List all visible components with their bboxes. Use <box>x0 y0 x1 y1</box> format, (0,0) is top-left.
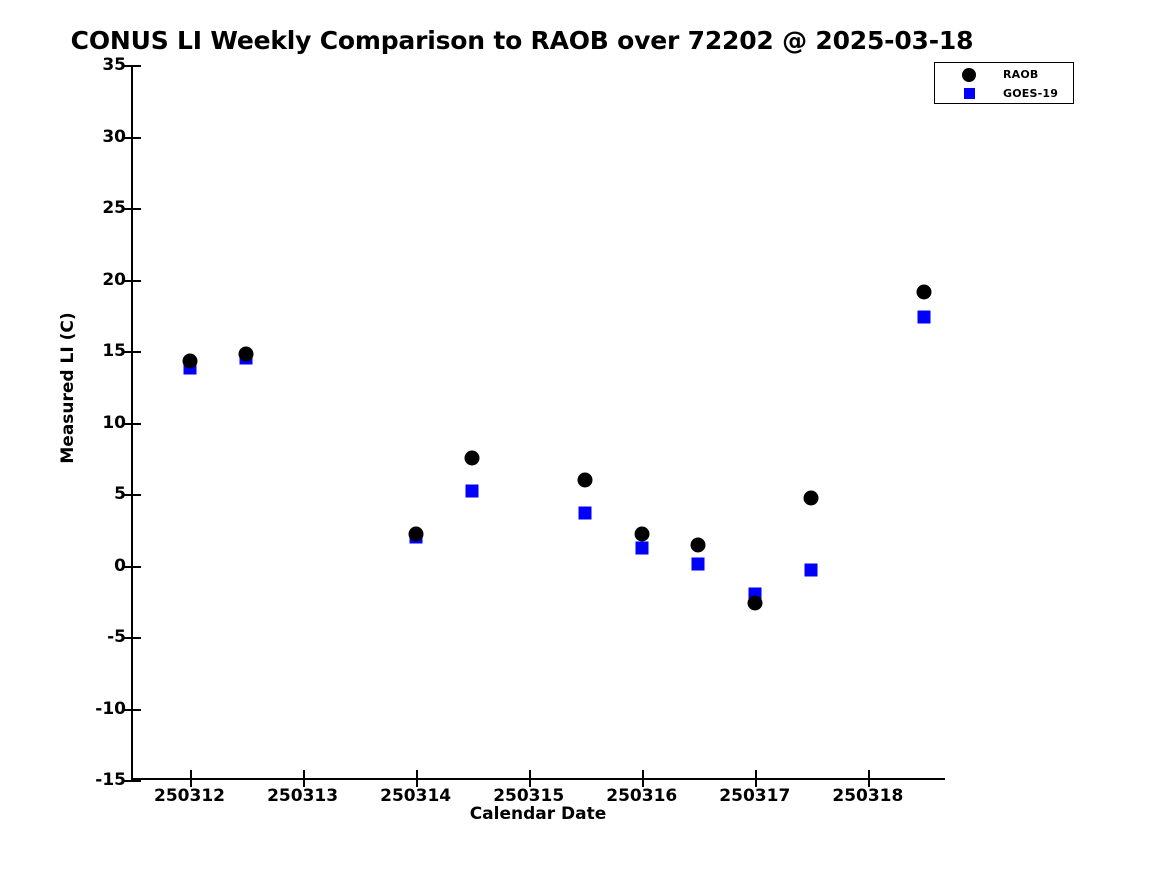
chart-legend: RAOB GOES-19 <box>934 62 1074 104</box>
legend-swatch-wrap <box>935 68 1003 82</box>
data-point-raob <box>747 595 762 610</box>
x-axis-tick-inner <box>190 770 192 778</box>
y-axis-tick-label: -5 <box>107 627 126 647</box>
data-point-raob <box>578 472 593 487</box>
x-axis-tick-label: 250318 <box>832 786 903 806</box>
y-axis-tick-inner <box>133 709 141 711</box>
data-point-raob <box>634 527 649 542</box>
x-axis-tick-label: 250316 <box>606 786 677 806</box>
y-axis-tick-inner <box>133 780 141 782</box>
x-axis-tick-inner <box>303 770 305 778</box>
square-marker-icon <box>964 88 975 99</box>
y-axis-tick-inner <box>133 208 141 210</box>
legend-swatch-wrap <box>935 88 1003 99</box>
data-point-raob <box>182 354 197 369</box>
page-title: CONUS LI Weekly Comparison to RAOB over … <box>0 26 1044 55</box>
data-point-raob <box>408 527 423 542</box>
data-point-goes-19 <box>579 506 592 519</box>
legend-label-raob: RAOB <box>1003 68 1039 81</box>
y-axis-tick-label: 20 <box>102 270 126 290</box>
data-point-goes-19 <box>805 563 818 576</box>
y-axis-tick-inner <box>133 65 141 67</box>
x-axis-tick-label: 250315 <box>493 786 564 806</box>
y-axis-tick-inner <box>133 494 141 496</box>
legend-item-goes19: GOES-19 <box>935 83 1073 104</box>
y-axis-tick-inner <box>133 566 141 568</box>
data-point-goes-19 <box>692 558 705 571</box>
x-axis-tick-inner <box>416 770 418 778</box>
x-axis-tick-inner <box>529 770 531 778</box>
data-point-raob <box>691 538 706 553</box>
y-axis-tick-inner <box>133 637 141 639</box>
y-axis-tick-label: 25 <box>102 198 126 218</box>
y-axis-tick-label: 15 <box>102 341 126 361</box>
y-axis-title: Measured LI (C) <box>58 288 78 488</box>
x-axis-title: Calendar Date <box>131 804 945 824</box>
data-point-raob <box>917 285 932 300</box>
y-axis-tick-inner <box>133 137 141 139</box>
x-axis-tick-label: 250314 <box>380 786 451 806</box>
x-axis-tick-label: 250312 <box>154 786 225 806</box>
y-axis-tick-inner <box>133 351 141 353</box>
x-axis-tick-inner <box>755 770 757 778</box>
legend-label-goes19: GOES-19 <box>1003 87 1058 100</box>
data-point-raob <box>465 451 480 466</box>
legend-item-raob: RAOB <box>935 64 1073 85</box>
y-axis-tick-inner <box>133 423 141 425</box>
x-axis-tick-label: 250317 <box>719 786 790 806</box>
x-axis-tick-inner <box>868 770 870 778</box>
x-axis-tick-inner <box>642 770 644 778</box>
y-axis-tick-label: 10 <box>102 413 126 433</box>
y-axis-tick-label: 30 <box>102 127 126 147</box>
plot-area: 35302520151050-5-10-15 25031225031325031… <box>131 65 945 780</box>
chart-figure: CONUS LI Weekly Comparison to RAOB over … <box>0 0 1167 875</box>
data-point-goes-19 <box>918 310 931 323</box>
y-axis-tick-label: 5 <box>114 484 126 504</box>
data-point-goes-19 <box>466 485 479 498</box>
data-point-raob <box>804 491 819 506</box>
y-axis-tick-label: 0 <box>114 556 126 576</box>
data-point-goes-19 <box>635 542 648 555</box>
y-axis-tick-inner <box>133 280 141 282</box>
data-point-raob <box>239 346 254 361</box>
x-axis-tick-label: 250313 <box>267 786 338 806</box>
y-axis-tick-label: -10 <box>95 699 126 719</box>
circle-marker-icon <box>962 68 976 82</box>
y-axis-tick-label: -15 <box>95 770 126 790</box>
y-axis-tick-label: 35 <box>102 55 126 75</box>
